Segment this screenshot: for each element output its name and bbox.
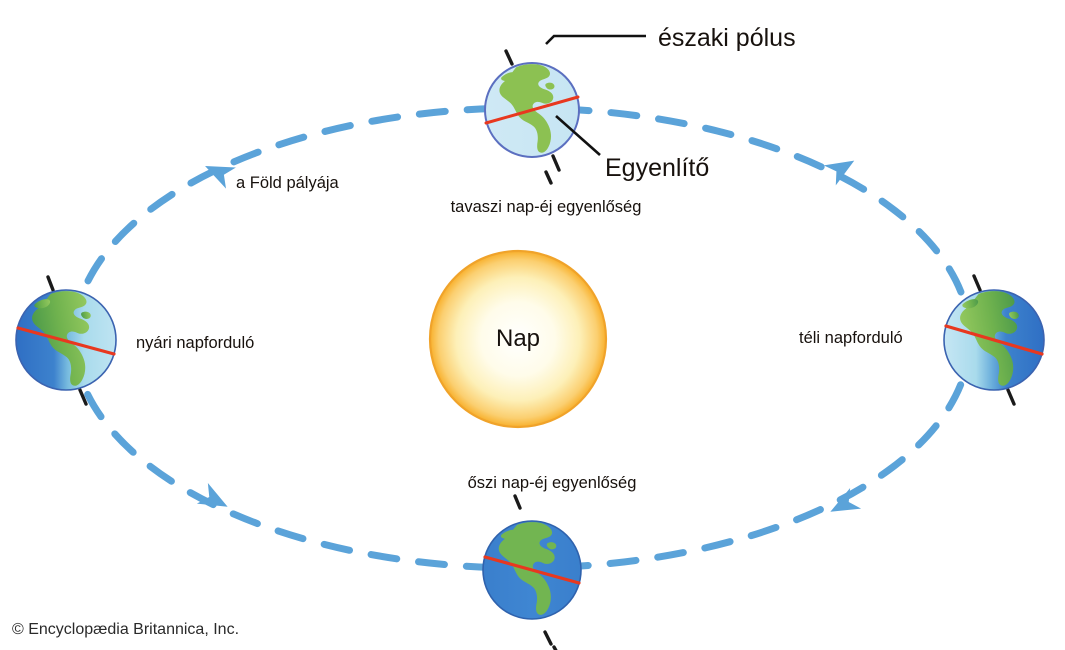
label-equator: Egyenlítő: [605, 154, 709, 183]
north-pole-leader: [546, 36, 646, 44]
label-vernal-equinox: tavaszi nap-éj egyenlőség: [451, 198, 642, 217]
label-autumnal-equinox: őszi nap-éj egyenlőség: [468, 474, 637, 493]
label-sun: Nap: [496, 325, 540, 353]
label-summer-solstice: nyári napforduló: [136, 334, 254, 353]
earth-vernal-equinox: [485, 51, 579, 183]
diagram-canvas: északi pólus Egyenlítő tavaszi nap-éj eg…: [0, 0, 1065, 650]
label-north-pole: északi pólus: [658, 24, 796, 53]
label-earth-orbit: a Föld pályája: [236, 174, 339, 193]
copyright-credit: © Encyclopædia Britannica, Inc.: [12, 621, 239, 639]
earth-autumnal-equinox: [483, 496, 581, 650]
label-winter-solstice: téli napforduló: [799, 329, 903, 348]
earth-summer-solstice: [16, 277, 116, 404]
